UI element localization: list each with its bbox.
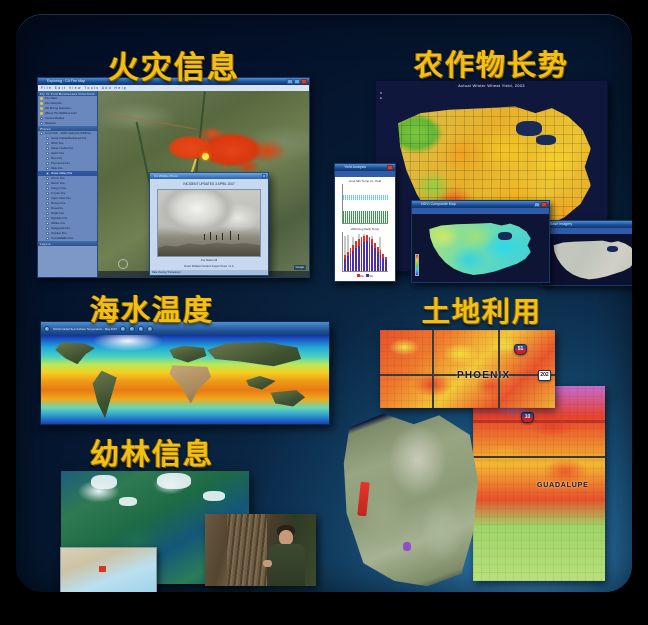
sea-surface-temperature-window[interactable]: NOAA Global Sea Surface Temperature - Ma… [40,321,330,425]
great-lakes [498,232,512,240]
minimize-icon[interactable] [287,79,293,84]
checkbox-icon[interactable] [40,122,43,125]
slide-stage: Exploring : CA Fire Map File Edit View T… [16,14,632,592]
compass-icon[interactable] [118,259,128,269]
line-series-yield [343,211,388,223]
continent-europe [168,346,208,366]
checkbox-icon[interactable] [46,197,49,200]
maximize-icon[interactable] [294,79,300,84]
heading-young-forest-info: 幼林信息 [90,431,214,473]
heading-land-use: 土地利用 [422,290,542,330]
highlighted-parcel [357,482,370,517]
checkbox-icon[interactable] [46,137,49,140]
checkbox-icon[interactable] [40,132,43,135]
highway-vertical [432,330,434,408]
checkbox-icon[interactable] [46,217,49,220]
landuse-map-phoenix[interactable]: PHOENIX 51 202 [380,330,555,408]
tree-silhouette [230,231,231,240]
route-shield-10[interactable]: 10 [521,412,534,423]
great-lakes [607,246,618,252]
continent-north-america [53,342,99,365]
checkbox-icon[interactable] [46,212,49,215]
heading-sea-temperature: 海水温度 [90,287,214,329]
route-shield-202[interactable]: 202 [538,370,551,381]
chart-window-controls[interactable] [387,165,393,170]
checkbox-icon[interactable] [46,207,49,210]
fire-pin-icon [40,107,43,110]
line-series-temp [343,195,388,200]
checkbox-icon[interactable] [46,142,49,145]
fire-map-window[interactable]: Exploring : CA Fire Map File Edit View T… [37,77,310,278]
highway-horizontal [473,456,605,458]
window-controls[interactable] [287,79,307,84]
chart-window-titlebar[interactable]: Yield Analysis [335,164,395,171]
checkbox-icon[interactable] [46,162,49,165]
tree-silhouette [216,235,217,240]
person-jacket [269,544,305,586]
fire-pin-icon [40,112,43,115]
usa-ndvi-layer [426,218,534,280]
fire-perimeter-overlay [164,123,284,179]
cloud-overlay [93,335,162,351]
forest-location-inset-map[interactable] [60,547,157,592]
popup-credit-line1: Credit: Wildland Incident Support Team /… [150,265,268,269]
field-crew-photo[interactable] [205,514,316,586]
fire-pin-icon [40,102,43,105]
legend-line: E [380,96,382,101]
checkbox-icon[interactable] [46,202,49,205]
line-chart-title: June Min Temp vs. Yield [337,179,393,183]
snow-patch [203,491,225,501]
checkbox-icon[interactable] [40,117,43,120]
continent-southeast-asia [243,376,278,390]
close-icon[interactable] [387,165,393,170]
yield-chart-body: June Min Temp vs. Yield 2004 Avg Daily T… [335,177,395,281]
checkbox-icon[interactable] [46,152,49,155]
legend-entry-min: Min [366,274,373,278]
checkbox-icon[interactable] [46,182,49,185]
ndvi-window-titlebar[interactable]: NDVI Composite Map [412,201,549,208]
base-imagery-titlebar[interactable]: Base Imagery [541,221,632,228]
watershed-terrain-model[interactable] [341,410,481,588]
continent-africa [168,365,214,404]
checkbox-icon[interactable] [46,167,49,170]
fire-layer-tree[interactable]: Santa Clarita/Buckweed Fire Witch Fire S… [38,136,97,241]
tree-silhouette [204,234,205,240]
fire-photo-popup[interactable]: CA Wildfire Photo INCIDENT UPDATED 3 APR… [149,172,269,276]
city-label-phoenix: PHOENIX [457,370,510,381]
city-label-guadalupe: GUADALUPE [537,482,589,489]
checkbox-icon[interactable] [46,147,49,150]
checkbox-icon[interactable] [46,187,49,190]
checkbox-icon[interactable] [46,172,49,175]
popup-titlebar[interactable]: CA Wildfire Photo [150,173,268,179]
tree-silhouette [222,233,223,240]
heading-crop-growth: 农作物长势 [414,42,569,84]
highway-horizontal [473,420,605,423]
ndvi-window-controls[interactable] [534,202,547,207]
minimize-icon[interactable] [534,202,540,207]
checkbox-icon[interactable] [46,192,49,195]
usa-base-layer [551,237,632,283]
ndvi-map-canvas[interactable] [412,214,549,282]
fire-window-body: Fly To Find Businesses Directions Fire M… [38,91,309,277]
snow-patch [119,497,137,506]
ndvi-composite-window[interactable]: NDVI Composite Map [411,200,550,283]
base-imagery-window[interactable]: Base Imagery [540,220,632,286]
checkbox-icon[interactable] [46,237,49,240]
close-icon[interactable] [541,202,547,207]
popup-window-controls[interactable] [262,174,266,178]
continent-asia [205,342,303,372]
person-face [279,530,293,545]
base-imagery-title: Base Imagery [543,221,632,228]
yield-chart-window[interactable]: Yield Analysis June Min Temp vs. Yield 2… [334,163,396,282]
popup-status-bar: Data Overlay Transparent [150,270,268,275]
tree-item-label: Corral/Malibu Fire [51,236,73,241]
route-shield-51[interactable]: 51 [514,344,527,355]
great-lakes [536,135,556,145]
great-lakes [516,121,542,136]
snow-patch [91,475,117,489]
search-row-label: Measure [45,121,56,126]
highway-vertical [498,330,500,408]
tree-silhouette [238,234,239,240]
close-icon[interactable] [301,79,307,84]
popup-headline: INCIDENT UPDATED 3 APRIL 2007 [150,179,268,186]
person-hand [263,560,272,567]
chart-window-title: Yield Analysis [337,164,387,171]
crop-map-legend: N E [380,91,382,101]
fire-sidebar[interactable]: Fly To Find Businesses Directions Fire M… [38,91,98,277]
popup-photo [157,189,261,257]
checkbox-icon[interactable] [46,222,49,225]
bar-chart-legend: Max Min [337,274,393,278]
sidebar-filler [38,246,97,277]
bar-chart-title: 2004 Avg Daily Temp [337,227,393,231]
popup-image-caption: Fire Station 28 [150,259,268,263]
globe-icon[interactable] [44,326,50,332]
bar-chart-plot [342,232,388,272]
popup-close-icon[interactable] [262,174,266,178]
snow-patch [157,473,191,489]
popup-window-title: CA Wildfire Photo [152,173,262,179]
ndvi-window-title: NDVI Composite Map [414,201,534,208]
checkbox-icon[interactable] [46,157,49,160]
bar-group [385,232,387,271]
checkbox-icon[interactable] [46,232,49,235]
classified-parcel [403,542,411,551]
line-chart-plot [342,184,388,224]
checkbox-icon[interactable] [46,227,49,230]
fire-map-canvas[interactable]: Google Preview: Imagery Date: 2007 Lat 3… [98,91,309,277]
checkbox-icon[interactable] [46,177,49,180]
ridge-silhouette [158,238,260,256]
continent-australia [266,390,306,408]
continent-south-america [87,371,122,421]
base-imagery-canvas[interactable] [541,234,632,285]
landuse-map-guadalupe[interactable]: 10 112 GUADALUPE [473,386,605,581]
slide-root: Exploring : CA Fire Map File Edit View T… [0,0,648,625]
study-area-marker [99,566,106,572]
fire-placemark-icon[interactable] [202,153,209,160]
fire-pin-icon [40,97,43,100]
legend-entry-max: Max [357,274,364,278]
heading-fire-information: 火灾信息 [108,42,240,87]
ndvi-colorbar [415,254,419,276]
map-attribution-badge: Google [294,265,306,270]
tree-trunk [227,514,267,586]
sst-map-canvas[interactable] [41,335,329,424]
tree-silhouette [210,232,211,240]
